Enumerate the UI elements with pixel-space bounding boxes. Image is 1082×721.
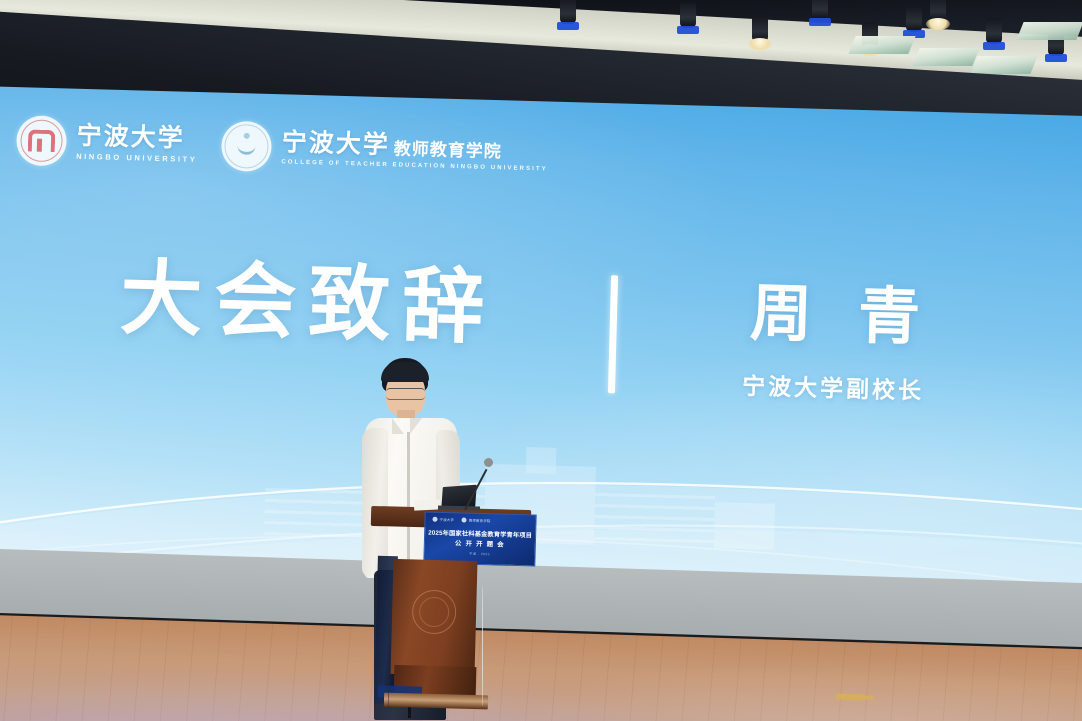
podium-sign-logo-left: 宁波大学 (432, 517, 454, 523)
stage-light-spot-2 (680, 2, 696, 28)
podium-university-emblem-icon (412, 589, 457, 634)
stage-photo: 宁波大学 NINGBO UNIVERSITY 宁波大学 教师教育学院 COLLE… (0, 0, 1082, 721)
teacher-education-college-logo: 宁波大学 教师教育学院 COLLEGE OF TEACHER EDUCATION… (221, 121, 549, 180)
podium-body (391, 559, 478, 676)
speaker-info-block: 周青 宁波大学副校长 (683, 281, 986, 407)
speech-notes-paper (414, 499, 440, 510)
podium-base (384, 693, 488, 710)
person-hair-front (381, 362, 429, 382)
stage-light-spot-1 (560, 0, 576, 24)
light-reflector-panel-2 (912, 48, 979, 66)
light-reflector-panel-1 (848, 36, 915, 54)
podium-sign-line-3: 宁波 · 2025 (425, 549, 535, 557)
ningbo-university-seal-icon (16, 115, 67, 166)
podium-sign-logo-left-text: 宁波大学 (439, 517, 454, 522)
podium: 宁波大学 教师教育学院 2025年国家社科基金教育学青年项目 公 开 开 题 会… (368, 508, 533, 708)
stage-light-spot-6 (906, 6, 922, 32)
stage-light-spot-7 (986, 18, 1002, 44)
stage-light-spot-9 (930, 0, 946, 22)
light-reflector-panel-4 (1016, 22, 1082, 40)
screen-headline: 大会致辞 (119, 258, 497, 350)
ningbo-university-logo: 宁波大学 NINGBO UNIVERSITY (16, 115, 199, 170)
screen-headline-wrap: 大会致辞 (119, 258, 497, 350)
headline-divider (608, 275, 618, 393)
ningbo-university-name-cn: 宁波大学 (76, 123, 198, 153)
speaker-name: 周青 (684, 281, 986, 351)
college-of-teacher-education-seal-icon (221, 121, 272, 172)
stage-light-spot-3 (752, 16, 768, 42)
podium-cable-1 (388, 568, 389, 708)
podium-seal-icon-left (432, 517, 437, 522)
college-parent-name-cn: 宁波大学 (282, 130, 391, 159)
ningbo-university-name-en: NINGBO UNIVERSITY (76, 151, 197, 163)
person-collar-right (410, 418, 422, 434)
floor-marker-tape (836, 694, 864, 701)
stage-light-spot-4 (812, 0, 828, 20)
podium-banner-sign: 宁波大学 教师教育学院 2025年国家社科基金教育学青年项目 公 开 开 题 会… (423, 511, 536, 566)
podium-sign-logos: 宁波大学 教师教育学院 (432, 517, 490, 524)
podium-sign-line-2: 公 开 开 题 会 (425, 537, 535, 549)
person-glasses-icon (386, 388, 425, 400)
led-screen: 宁波大学 NINGBO UNIVERSITY 宁波大学 教师教育学院 COLLE… (0, 86, 1082, 617)
podium-sign-logo-right: 教师教育学院 (462, 517, 491, 523)
microphone-head-icon (484, 458, 493, 467)
podium-cable-2 (482, 586, 483, 706)
person-collar-left (392, 418, 404, 434)
light-reflector-panel-3 (970, 56, 1037, 74)
college-name-cn: 教师教育学院 (393, 134, 502, 162)
podium-seal-icon-right (462, 517, 467, 522)
screen-logo-row: 宁波大学 NINGBO UNIVERSITY 宁波大学 教师教育学院 COLLE… (16, 115, 549, 179)
podium-sign-logo-right-text: 教师教育学院 (469, 518, 491, 524)
